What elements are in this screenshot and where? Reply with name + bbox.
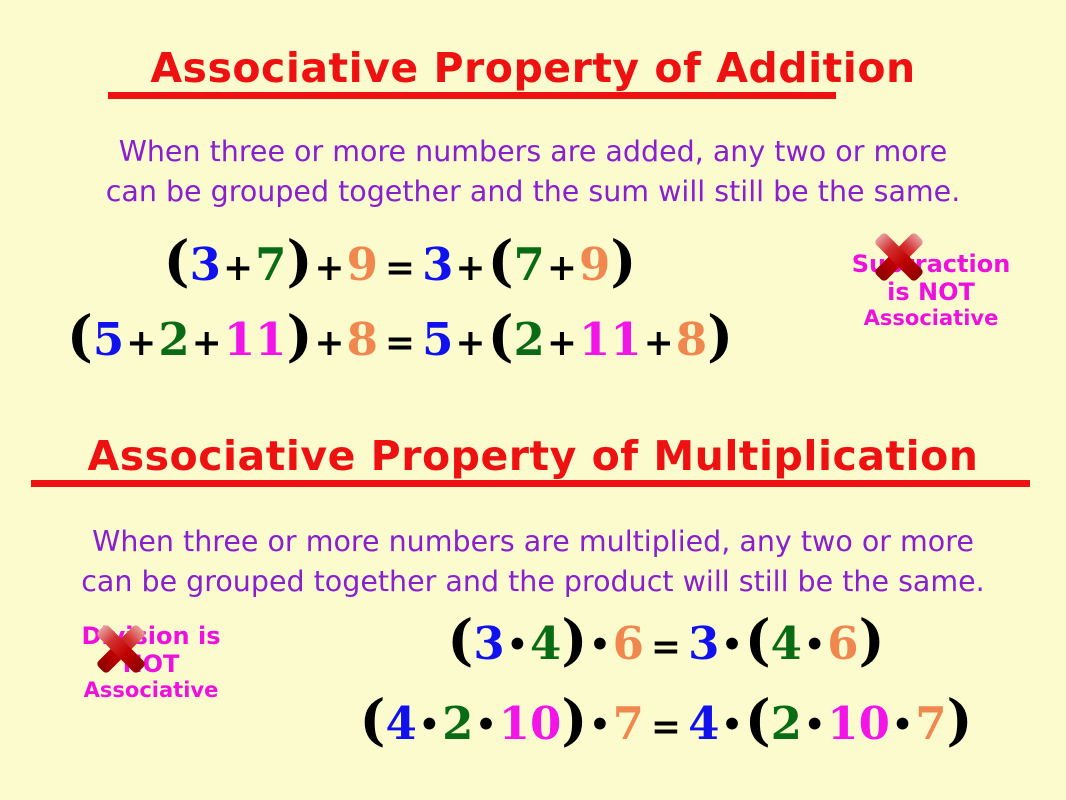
plus-operator: + xyxy=(124,322,158,364)
term-4: 4 xyxy=(385,697,416,750)
term-9: 9 xyxy=(579,238,610,291)
term-8: 8 xyxy=(347,313,378,366)
title-underline-addition xyxy=(108,92,836,99)
dot-operator: • xyxy=(890,705,915,744)
dot-operator: • xyxy=(505,625,530,664)
term-11: 11 xyxy=(224,313,287,366)
term-2: 2 xyxy=(514,313,545,366)
close-paren: ) xyxy=(610,228,636,293)
open-paren: ( xyxy=(488,303,514,368)
term-4: 4 xyxy=(530,617,561,670)
plus-operator: + xyxy=(453,322,487,364)
equation-addition-1: (3+7)+9=3+(7+9) xyxy=(0,228,800,293)
term-6: 6 xyxy=(827,617,858,670)
callout-line-2: NOT xyxy=(42,650,260,678)
term-2: 2 xyxy=(442,697,473,750)
description-addition-line2: can be grouped together and the sum will… xyxy=(0,172,1066,212)
term-4: 4 xyxy=(771,617,802,670)
term-2: 2 xyxy=(158,313,189,366)
dot-operator: • xyxy=(587,625,612,664)
close-paren: ) xyxy=(561,687,587,752)
close-paren: ) xyxy=(286,228,312,293)
equation-multiplication-2: (4•2•10)•7=4•(2•10•7) xyxy=(266,687,1066,752)
equals-sign: = xyxy=(378,322,422,364)
dot-operator: • xyxy=(719,625,744,664)
plus-operator: + xyxy=(221,247,255,289)
close-paren: ) xyxy=(561,607,587,672)
plus-operator: + xyxy=(545,322,579,364)
dot-operator: • xyxy=(417,705,442,744)
open-paren: ( xyxy=(67,303,93,368)
term-4: 4 xyxy=(688,697,719,750)
term-2: 2 xyxy=(771,697,802,750)
term-11: 11 xyxy=(579,313,642,366)
title-underline-multiplication xyxy=(31,480,1030,487)
term-9: 9 xyxy=(347,238,378,291)
description-multiplication-line1: When three or more numbers are multiplie… xyxy=(0,522,1066,562)
callout-line-3: Associative xyxy=(806,306,1056,331)
dot-operator: • xyxy=(473,705,498,744)
dot-operator: • xyxy=(802,705,827,744)
callout-division-not-associative: Division is NOT Associative xyxy=(42,622,260,703)
description-addition: When three or more numbers are added, an… xyxy=(0,132,1066,212)
open-paren: ( xyxy=(488,228,514,293)
callout-line-1: Subtraction xyxy=(806,250,1056,278)
open-paren: ( xyxy=(745,687,771,752)
dot-operator: • xyxy=(802,625,827,664)
equals-sign: = xyxy=(644,706,688,748)
slide-canvas: Associative Property of Addition When th… xyxy=(0,0,1066,800)
plus-operator: + xyxy=(312,322,346,364)
dot-operator: • xyxy=(719,705,744,744)
term-3: 3 xyxy=(190,238,221,291)
term-7: 7 xyxy=(514,238,545,291)
term-3: 3 xyxy=(473,617,504,670)
callout-line-2: is NOT xyxy=(806,278,1056,306)
open-paren: ( xyxy=(745,607,771,672)
term-10: 10 xyxy=(499,697,562,750)
term-6: 6 xyxy=(613,617,644,670)
close-paren: ) xyxy=(947,687,973,752)
term-5: 5 xyxy=(422,313,453,366)
equation-multiplication-1: (3•4)•6=3•(4•6) xyxy=(266,607,1066,672)
equals-sign: = xyxy=(644,626,688,668)
plus-operator: + xyxy=(545,247,579,289)
term-8: 8 xyxy=(676,313,707,366)
equals-sign: = xyxy=(378,247,422,289)
page-title-addition: Associative Property of Addition xyxy=(0,44,1066,92)
plus-operator: + xyxy=(642,322,676,364)
open-paren: ( xyxy=(164,228,190,293)
term-3: 3 xyxy=(422,238,453,291)
open-paren: ( xyxy=(359,687,385,752)
term-7: 7 xyxy=(255,238,286,291)
plus-operator: + xyxy=(190,322,224,364)
close-paren: ) xyxy=(859,607,885,672)
term-10: 10 xyxy=(827,697,890,750)
description-multiplication: When three or more numbers are multiplie… xyxy=(0,522,1066,602)
close-paren: ) xyxy=(286,303,312,368)
term-3: 3 xyxy=(688,617,719,670)
close-paren: ) xyxy=(707,303,733,368)
dot-operator: • xyxy=(587,705,612,744)
description-addition-line1: When three or more numbers are added, an… xyxy=(0,132,1066,172)
callout-line-3: Associative xyxy=(42,678,260,703)
plus-operator: + xyxy=(312,247,346,289)
term-5: 5 xyxy=(93,313,124,366)
term-7: 7 xyxy=(915,697,946,750)
callout-subtraction-not-associative: Subtraction is NOT Associative xyxy=(806,250,1056,331)
term-7: 7 xyxy=(613,697,644,750)
open-paren: ( xyxy=(447,607,473,672)
plus-operator: + xyxy=(453,247,487,289)
equation-addition-2: (5+2+11)+8=5+(2+11+8) xyxy=(0,303,800,368)
callout-line-1: Division is xyxy=(42,622,260,650)
page-title-multiplication: Associative Property of Multiplication xyxy=(0,432,1066,480)
description-multiplication-line2: can be grouped together and the product … xyxy=(0,562,1066,602)
